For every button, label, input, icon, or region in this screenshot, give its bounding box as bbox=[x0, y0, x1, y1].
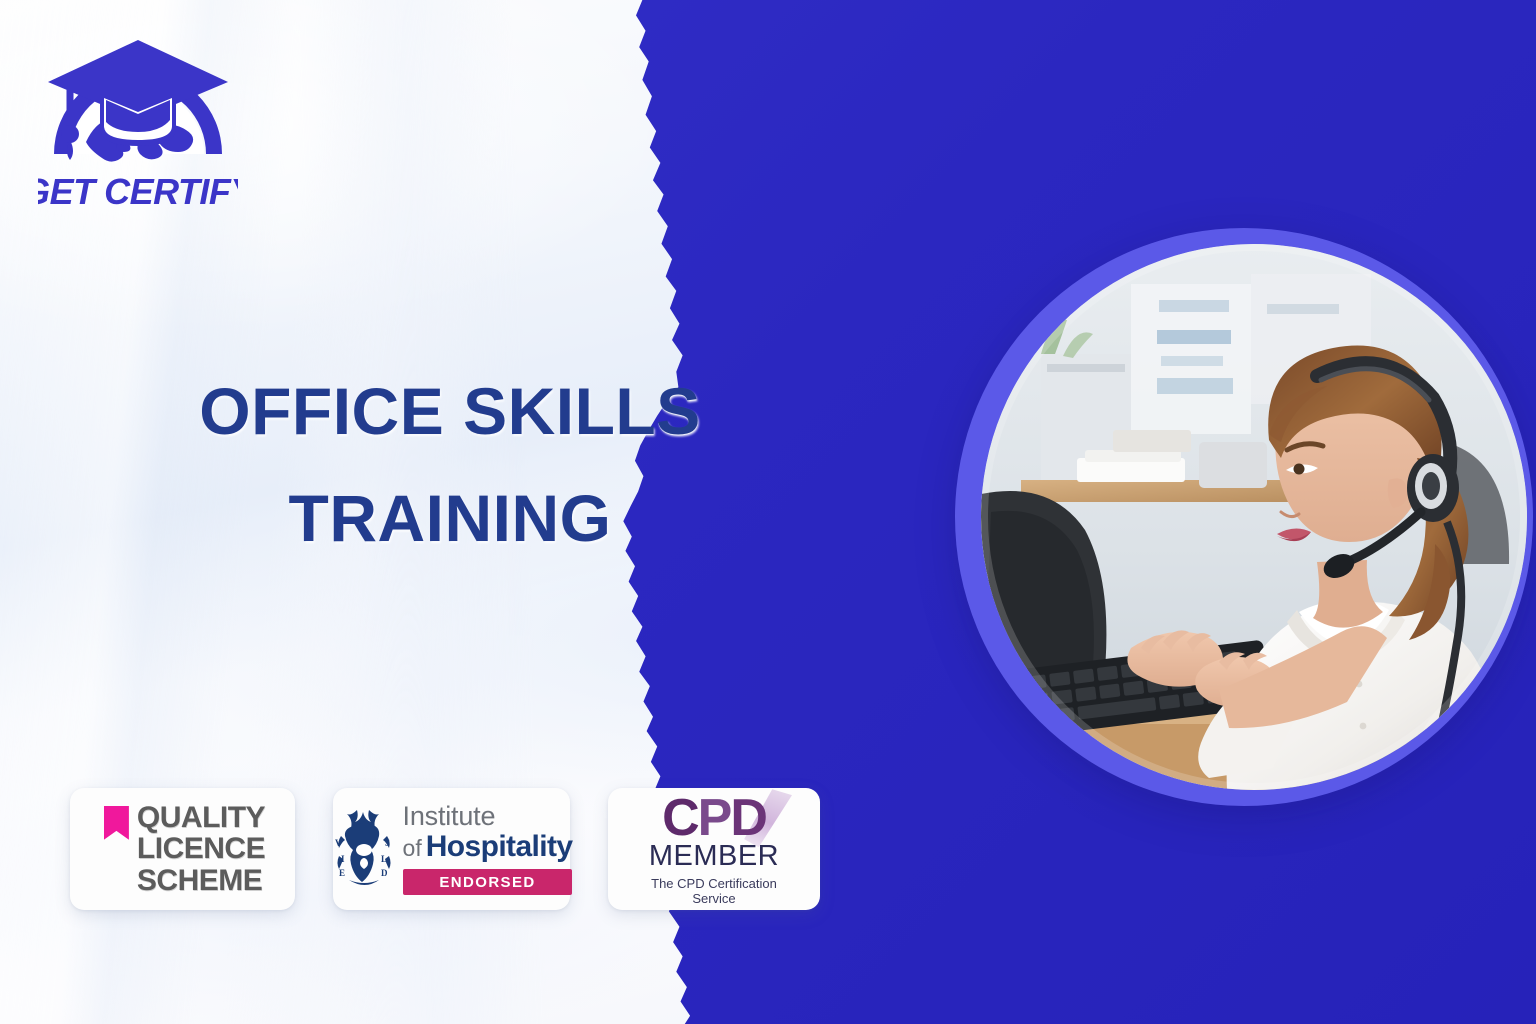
cpd-member-label: MEMBER bbox=[608, 841, 820, 871]
ioh-endorsed-banner: ENDORSED bbox=[403, 869, 573, 895]
office-worker-photo bbox=[981, 244, 1527, 790]
cpd-letter-p: P bbox=[698, 789, 731, 847]
title-line-2: TRAINING bbox=[0, 465, 900, 572]
cpd-wordmark: CPD bbox=[608, 795, 820, 843]
qls-line-1: QUALITY bbox=[137, 802, 265, 834]
svg-text:D: D bbox=[381, 868, 388, 878]
accreditation-badges: QUALITY LICENCE SCHEME bbox=[70, 788, 820, 910]
promo-banner: GET CERTIFY OFFICE SKILLS TRAINING QUALI… bbox=[0, 0, 1536, 1024]
svg-text:L: L bbox=[381, 854, 387, 864]
svg-text:I: I bbox=[341, 854, 345, 864]
quality-licence-scheme-text: QUALITY LICENCE SCHEME bbox=[137, 802, 265, 897]
cpd-service-line-1: The CPD Certification bbox=[608, 876, 820, 892]
qls-line-3: SCHEME bbox=[137, 865, 265, 897]
heraldic-crest-icon: V S I L E D bbox=[331, 806, 397, 892]
bookmark-ribbon-icon bbox=[104, 806, 129, 840]
svg-text:S: S bbox=[385, 838, 390, 848]
photo-ring bbox=[955, 228, 1533, 806]
brand-logo-text: GET CERTIFY bbox=[38, 171, 238, 212]
cpd-letter-c: C bbox=[662, 789, 698, 847]
graduation-cap-globe-icon bbox=[48, 40, 228, 162]
svg-text:E: E bbox=[339, 868, 345, 878]
photo-scene bbox=[981, 244, 1527, 790]
cpd-service-line-2: Service bbox=[608, 891, 820, 907]
ioh-hospitality-word: Hospitality bbox=[426, 832, 573, 862]
title-line-1: OFFICE SKILLS bbox=[0, 358, 900, 465]
badge-institute-of-hospitality[interactable]: V S I L E D Institute of Hospitality bbox=[333, 788, 570, 910]
brand-logo[interactable]: GET CERTIFY bbox=[38, 22, 238, 212]
ioh-of-word: of bbox=[403, 837, 422, 860]
cpd-letter-d: D bbox=[730, 789, 766, 847]
institute-of-hospitality-text: Institute of Hospitality ENDORSED bbox=[403, 803, 573, 895]
ioh-institute-word: Institute bbox=[403, 803, 573, 830]
page-title: OFFICE SKILLS TRAINING bbox=[0, 358, 900, 572]
badge-cpd-member[interactable]: CPD MEMBER The CPD Certification Service bbox=[608, 788, 820, 910]
qls-line-2: LICENCE bbox=[137, 833, 265, 865]
svg-text:V: V bbox=[335, 838, 342, 848]
badge-quality-licence-scheme[interactable]: QUALITY LICENCE SCHEME bbox=[70, 788, 295, 910]
